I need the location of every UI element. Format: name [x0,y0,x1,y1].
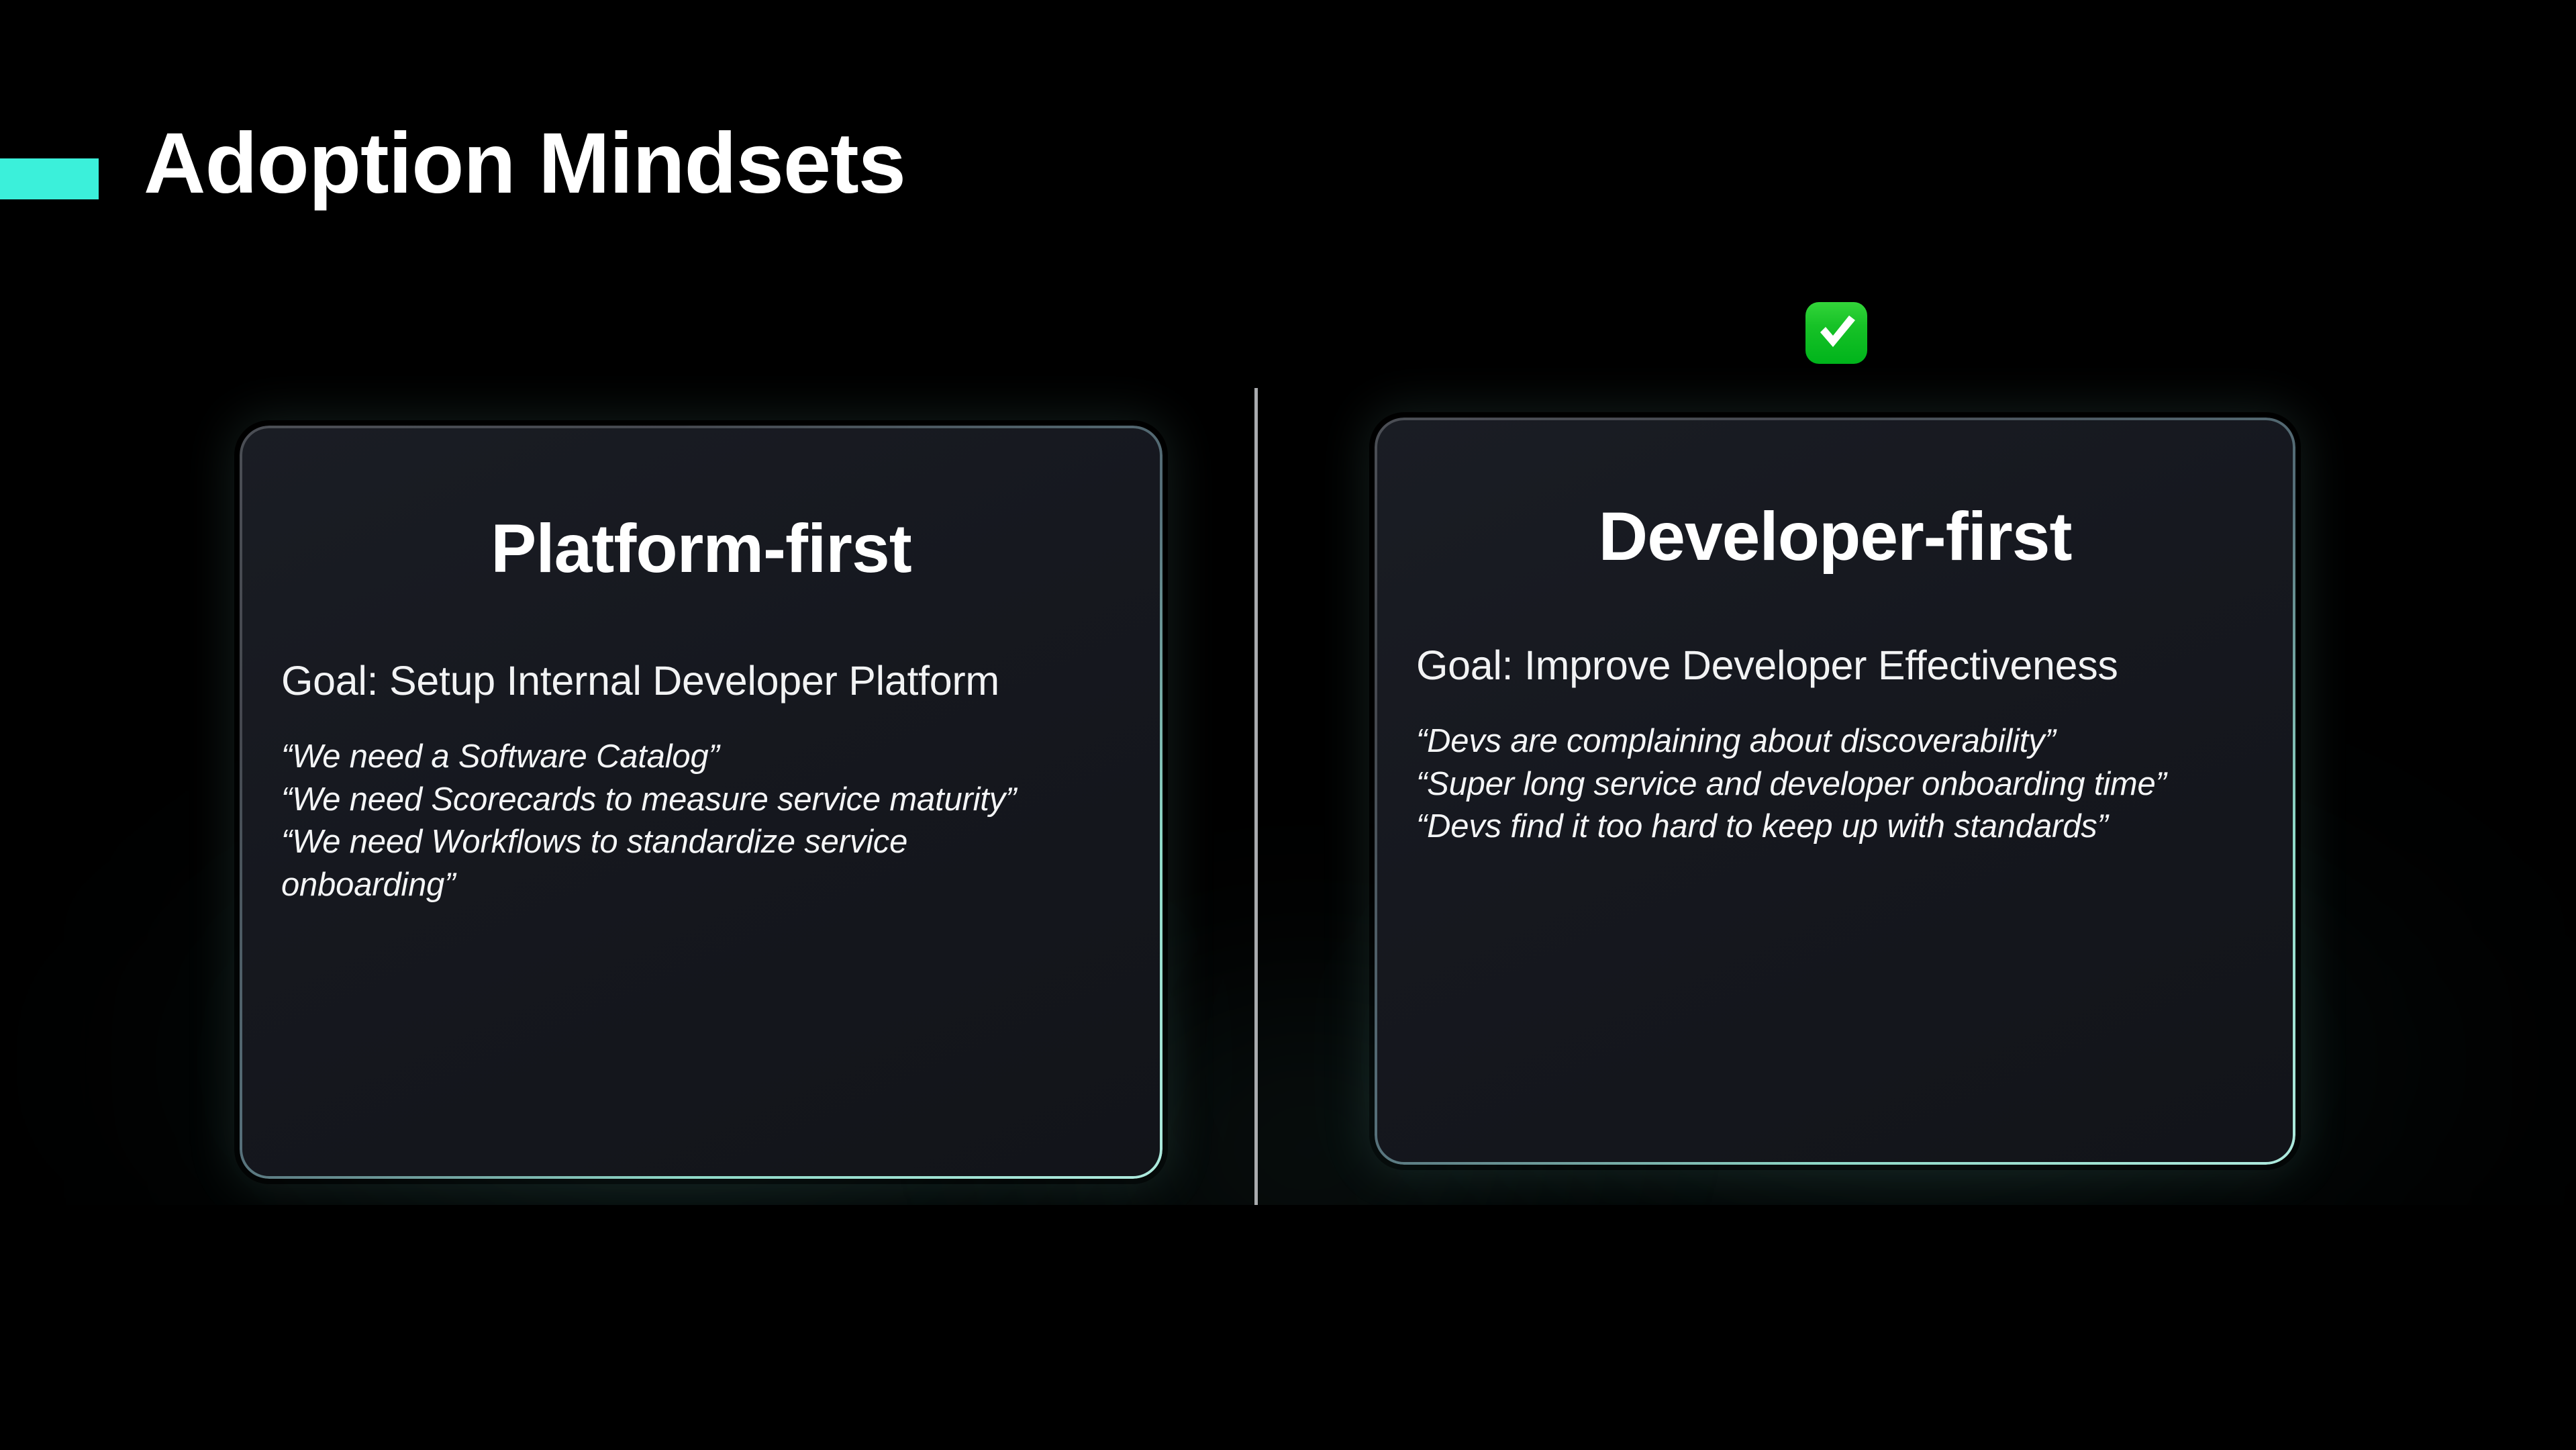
page-title: Adoption Mindsets [144,121,905,207]
card-platform-first[interactable]: Platform-first Goal: Setup Internal Deve… [240,426,1162,1179]
card-developer-first[interactable]: Developer-first Goal: Improve Developer … [1375,418,2295,1165]
card-goal-platform-first: Goal: Setup Internal Developer Platform [281,653,1060,709]
quote-line: “Super long service and developer onboar… [1416,763,2228,806]
card-quotes-developer-first: “Devs are complaining about discoverabil… [1416,720,2228,849]
slide-bottom-mask [0,1205,2576,1450]
card-content-platform-first: Platform-first Goal: Setup Internal Deve… [240,514,1162,1179]
card-content-developer-first: Developer-first Goal: Improve Developer … [1375,502,2295,1165]
card-title-platform-first: Platform-first [281,514,1121,583]
title-accent-bar [0,158,99,199]
quote-line: “We need Workflows to standardize servic… [281,821,1087,906]
quote-line: “Devs find it too hard to keep up with s… [1416,806,2228,849]
card-title-developer-first: Developer-first [1416,502,2254,571]
slide-root: Adoption Mindsets Platform-first Goal: S… [0,0,2576,1450]
quote-line: “Devs are complaining about discoverabil… [1416,720,2228,763]
card-quotes-platform-first: “We need a Software Catalog” “We need Sc… [281,736,1087,907]
card-goal-developer-first: Goal: Improve Developer Effectiveness [1416,638,2195,693]
check-mark-icon [1805,302,1867,364]
quote-line: “We need a Software Catalog” [281,736,1087,779]
column-divider [1254,388,1258,1205]
quote-line: “We need Scorecards to measure service m… [281,779,1087,822]
check-mark-badge [1805,302,1867,364]
